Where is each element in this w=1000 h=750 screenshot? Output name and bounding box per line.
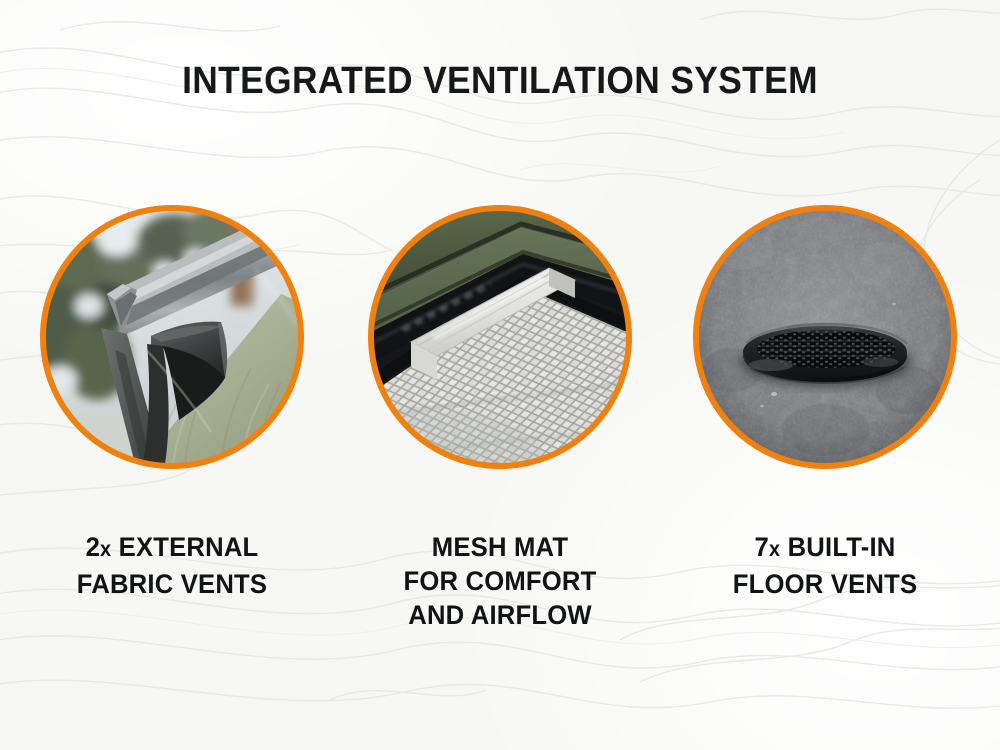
feature-circle-mesh-mat xyxy=(368,205,632,469)
feature-circle-external-fabric-vents xyxy=(40,205,304,469)
feature-circle-floor-vents xyxy=(693,205,957,469)
feature-count: 2 xyxy=(86,532,100,562)
feature-caption-external-fabric-vents: 2x EXTERNAL FABRIC VENTS xyxy=(30,530,315,601)
feature-count-multiplier: x xyxy=(769,538,780,561)
caption-line-1: 2x EXTERNAL xyxy=(30,530,315,567)
caption-line-1: MESH MAT xyxy=(358,530,643,564)
page-title: INTEGRATED VENTILATION SYSTEM xyxy=(35,58,965,104)
floor-vent-photo xyxy=(698,210,952,464)
feature-caption-floor-vents: 7x BUILT-IN FLOOR VENTS xyxy=(683,530,968,601)
feature-count-multiplier: x xyxy=(100,538,111,561)
external-fabric-vent-photo xyxy=(45,210,299,464)
feature-count: 7 xyxy=(755,532,769,562)
caption-line-2: FLOOR VENTS xyxy=(683,567,968,601)
feature-image-row xyxy=(0,205,1000,473)
caption-line-1-text: EXTERNAL xyxy=(111,532,258,562)
caption-line-2: FOR COMFORT xyxy=(358,564,643,598)
feature-caption-mesh-mat: MESH MAT FOR COMFORT AND AIRFLOW xyxy=(358,530,643,632)
caption-line-1-text: BUILT-IN xyxy=(780,532,895,562)
caption-line-3: AND AIRFLOW xyxy=(358,598,643,632)
mesh-mat-photo xyxy=(373,210,627,464)
caption-line-2: FABRIC VENTS xyxy=(30,567,315,601)
promo-graphic: INTEGRATED VENTILATION SYSTEM xyxy=(0,0,1000,750)
caption-line-1: 7x BUILT-IN xyxy=(683,530,968,567)
